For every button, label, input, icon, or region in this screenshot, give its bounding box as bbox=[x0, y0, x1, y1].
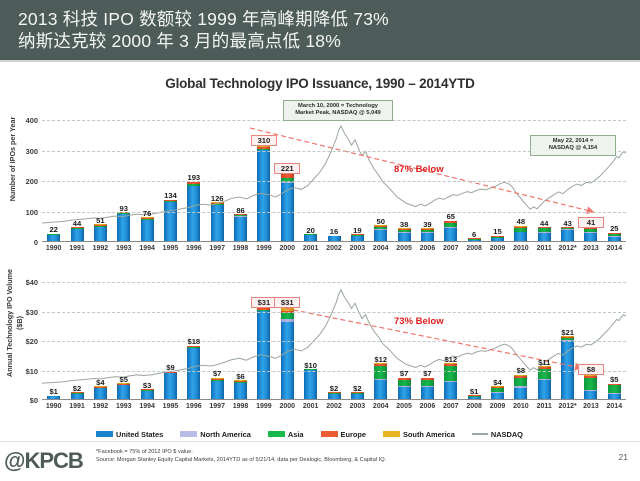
gridline bbox=[42, 282, 626, 283]
x-axis-tick: 1993 bbox=[111, 245, 137, 252]
annotation-87-below: 87% Below bbox=[394, 164, 444, 175]
x-axis-tick: 2002 bbox=[321, 403, 347, 410]
bar-value-label: 48 bbox=[508, 217, 534, 226]
x-axis-tick: 1995 bbox=[157, 403, 183, 410]
y-axis-ticks-bottom: $0$10$20$30$40 bbox=[0, 282, 38, 400]
legend-label: South America bbox=[403, 430, 455, 439]
x-axis-tick: 1994 bbox=[134, 403, 160, 410]
bar-value-label: $8 bbox=[508, 366, 534, 375]
x-axis-tick: 2010 bbox=[508, 245, 534, 252]
bar-value-label: 39 bbox=[414, 220, 440, 229]
legend-label: North America bbox=[200, 430, 251, 439]
bar-value-label: 22 bbox=[41, 225, 67, 234]
x-axis-tick: 2003 bbox=[344, 403, 370, 410]
x-axis-tick: 2009 bbox=[485, 403, 511, 410]
x-axis-tick: 1990 bbox=[41, 403, 67, 410]
x-axis-tick: 2011 bbox=[531, 245, 557, 252]
y-axis-tick: 200 bbox=[4, 177, 38, 186]
page-number: 21 bbox=[619, 452, 628, 462]
y-axis-tick: $30 bbox=[4, 308, 38, 317]
bar-value-label: $11 bbox=[531, 358, 557, 367]
bar-value-label: 126 bbox=[204, 194, 230, 203]
kpcb-logo: @KPCB bbox=[4, 448, 83, 474]
bar-value-label: $7 bbox=[391, 369, 417, 378]
x-axis-tick: 1998 bbox=[228, 245, 254, 252]
x-axis-tick: 2011 bbox=[531, 403, 557, 410]
x-axis-tick: 1996 bbox=[181, 403, 207, 410]
legend-swatch-nasdaq-icon bbox=[472, 433, 488, 435]
gridline bbox=[42, 371, 626, 372]
bar-value-label: $3 bbox=[134, 381, 160, 390]
x-axis-tick: 1998 bbox=[228, 403, 254, 410]
y-axis-tick: $20 bbox=[4, 337, 38, 346]
bar-value-label: 65 bbox=[438, 212, 464, 221]
x-axis-tick: 1992 bbox=[87, 245, 113, 252]
bar-value-label: 93 bbox=[111, 204, 137, 213]
gridline bbox=[42, 181, 626, 182]
x-axis-tick: 1990 bbox=[41, 245, 67, 252]
bar-value-label: $2 bbox=[344, 384, 370, 393]
x-axis-tick: 2005 bbox=[391, 245, 417, 252]
legend-item-na[interactable]: North America bbox=[180, 430, 251, 439]
y-axis-ticks-top: 0100200300400 bbox=[0, 120, 38, 242]
x-axis-tick: 2009 bbox=[485, 245, 511, 252]
annotation-73-below: 73% Below bbox=[394, 316, 444, 327]
bar-value-label: 76 bbox=[134, 209, 160, 218]
bar-value-label: $18 bbox=[181, 337, 207, 346]
x-axis-tick: 2003 bbox=[344, 245, 370, 252]
legend-swatch-eu-icon bbox=[321, 431, 338, 437]
bar-value-label: 51 bbox=[87, 216, 113, 225]
legend-label: Europe bbox=[341, 430, 366, 439]
bar-value-label-highlighted: $31 bbox=[274, 297, 300, 308]
x-axis-tick: 2000 bbox=[274, 245, 300, 252]
gridline bbox=[42, 312, 626, 313]
bar-value-label: 15 bbox=[485, 227, 511, 236]
x-axis-tick: 2008 bbox=[461, 403, 487, 410]
bar-value-label: $2 bbox=[321, 384, 347, 393]
legend-label: United States bbox=[116, 430, 163, 439]
x-axis-tick: 2006 bbox=[414, 403, 440, 410]
legend-swatch-asia-icon bbox=[268, 431, 285, 437]
gridline bbox=[42, 341, 626, 342]
x-axis-tick: 1994 bbox=[134, 245, 160, 252]
bar-value-label-highlighted: $8 bbox=[578, 364, 604, 375]
callout-latest-nasdaq: May 22, 2014 = NASDAQ @ 4,154 bbox=[530, 135, 616, 156]
legend-swatch-us-icon bbox=[96, 431, 113, 437]
x-axis-tick: 1991 bbox=[64, 403, 90, 410]
x-axis-tick: 2007 bbox=[438, 403, 464, 410]
bar-value-label-highlighted: 41 bbox=[578, 217, 604, 228]
bar-value-label: $12 bbox=[368, 355, 394, 364]
x-axis-tick: 2012* bbox=[555, 403, 581, 410]
x-axis-tick: 2012* bbox=[555, 245, 581, 252]
y-axis-tick: $0 bbox=[4, 396, 38, 405]
x-axis-tick: 1999 bbox=[251, 245, 277, 252]
bar-value-label: $9 bbox=[157, 363, 183, 372]
chart-legend: United StatesNorth AmericaAsiaEuropeSout… bbox=[96, 427, 566, 441]
bar-value-label: $21 bbox=[555, 328, 581, 337]
x-axis-tick: 1997 bbox=[204, 245, 230, 252]
chart-ipo-volume: Annual Technology IPO Volume ($B) $0$10$… bbox=[0, 270, 640, 412]
x-axis-tick: 1999 bbox=[251, 403, 277, 410]
x-axis-tick: 2001 bbox=[298, 403, 324, 410]
bar-value-label: 193 bbox=[181, 173, 207, 182]
bar-value-label: $12 bbox=[438, 355, 464, 364]
x-axis-tick: 2006 bbox=[414, 245, 440, 252]
bar-value-label: 86 bbox=[228, 206, 254, 215]
legend-item-nasdaq[interactable]: NASDAQ bbox=[472, 430, 523, 439]
x-axis-tick: 1996 bbox=[181, 245, 207, 252]
bar-value-label: 25 bbox=[601, 224, 627, 233]
chart-title: Global Technology IPO Issuance, 1990 – 2… bbox=[0, 76, 640, 91]
source-footnote: *Facebook = 75% of 2012 IPO $ value. Sou… bbox=[96, 449, 386, 464]
x-axis-tick: 1995 bbox=[157, 245, 183, 252]
bar-value-label: 6 bbox=[461, 230, 487, 239]
bar-value-label: $1 bbox=[461, 387, 487, 396]
bar-value-label: 19 bbox=[344, 226, 370, 235]
bar-value-label: $7 bbox=[414, 369, 440, 378]
x-axis-tick: 2004 bbox=[368, 245, 394, 252]
page-title: 2013 科技 IPO 数额较 1999 年高峰期降低 73% 纳斯达克较 20… bbox=[18, 8, 389, 52]
bar-value-label: $4 bbox=[87, 378, 113, 387]
bar-value-label: 43 bbox=[555, 219, 581, 228]
bar-value-label: $5 bbox=[111, 375, 137, 384]
bar-value-label: 44 bbox=[531, 219, 557, 228]
legend-label: Asia bbox=[288, 430, 304, 439]
bar-value-label: $5 bbox=[601, 375, 627, 384]
slide-header: 2013 科技 IPO 数额较 1999 年高峰期降低 73% 纳斯达克较 20… bbox=[0, 0, 640, 62]
x-axis-tick: 2007 bbox=[438, 245, 464, 252]
legend-item-sa[interactable]: South America bbox=[383, 430, 455, 439]
x-axis-tick: 1997 bbox=[204, 403, 230, 410]
legend-label: NASDAQ bbox=[491, 430, 523, 439]
bar-value-label-highlighted: 310 bbox=[251, 135, 277, 146]
bar-value-label: $4 bbox=[485, 378, 511, 387]
legend-item-asia[interactable]: Asia bbox=[268, 430, 304, 439]
footer-divider bbox=[0, 441, 640, 442]
x-axis-tick: 2001 bbox=[298, 245, 324, 252]
x-axis-tick: 2004 bbox=[368, 403, 394, 410]
bar-value-label: 20 bbox=[298, 226, 324, 235]
x-axis-tick: 2000 bbox=[274, 403, 300, 410]
x-axis-tick: 1992 bbox=[87, 403, 113, 410]
bar-value-label: $6 bbox=[228, 372, 254, 381]
bar-value-label: 44 bbox=[64, 219, 90, 228]
slide-canvas: 2013 科技 IPO 数额较 1999 年高峰期降低 73% 纳斯达克较 20… bbox=[0, 0, 640, 481]
callout-market-peak: March 10, 2000 = Technology Market Peak,… bbox=[283, 100, 393, 121]
bar-value-label: $2 bbox=[64, 384, 90, 393]
bar-value-label: $7 bbox=[204, 369, 230, 378]
x-axis-tick: 2008 bbox=[461, 245, 487, 252]
bar-value-label-highlighted: 221 bbox=[274, 163, 300, 174]
x-axis-tick: 2010 bbox=[508, 403, 534, 410]
x-axis-tick: 1991 bbox=[64, 245, 90, 252]
y-axis-tick: 0 bbox=[4, 238, 38, 247]
x-axis-tick: 2005 bbox=[391, 403, 417, 410]
y-axis-tick: $40 bbox=[4, 278, 38, 287]
chart-ipo-count: Number of IPOs per Year 0100200300400 19… bbox=[0, 98, 640, 260]
legend-swatch-sa-icon bbox=[383, 431, 400, 437]
y-axis-tick: 400 bbox=[4, 116, 38, 125]
bar-value-label: 50 bbox=[368, 217, 394, 226]
bar-value-label-highlighted: $31 bbox=[251, 297, 277, 308]
bar-value-label: 134 bbox=[157, 191, 183, 200]
x-axis-tick: 2002 bbox=[321, 245, 347, 252]
y-axis-tick: 100 bbox=[4, 208, 38, 217]
y-axis-tick: $10 bbox=[4, 367, 38, 376]
legend-item-eu[interactable]: Europe bbox=[321, 430, 366, 439]
legend-item-us[interactable]: United States bbox=[96, 430, 163, 439]
x-axis-tick: 2013 bbox=[578, 403, 604, 410]
legend-swatch-na-icon bbox=[180, 431, 197, 437]
bar-value-label: 38 bbox=[391, 220, 417, 229]
bar-value-label: $1 bbox=[41, 387, 67, 396]
x-axis-tick: 2013 bbox=[578, 245, 604, 252]
x-axis-tick: 2014 bbox=[601, 245, 627, 252]
bar-value-label: $10 bbox=[298, 361, 324, 370]
y-axis-tick: 300 bbox=[4, 147, 38, 156]
bar-value-label: 16 bbox=[321, 227, 347, 236]
decline-arrowhead bbox=[586, 206, 594, 214]
x-axis-tick: 2014 bbox=[601, 403, 627, 410]
x-axis-tick: 1993 bbox=[111, 403, 137, 410]
